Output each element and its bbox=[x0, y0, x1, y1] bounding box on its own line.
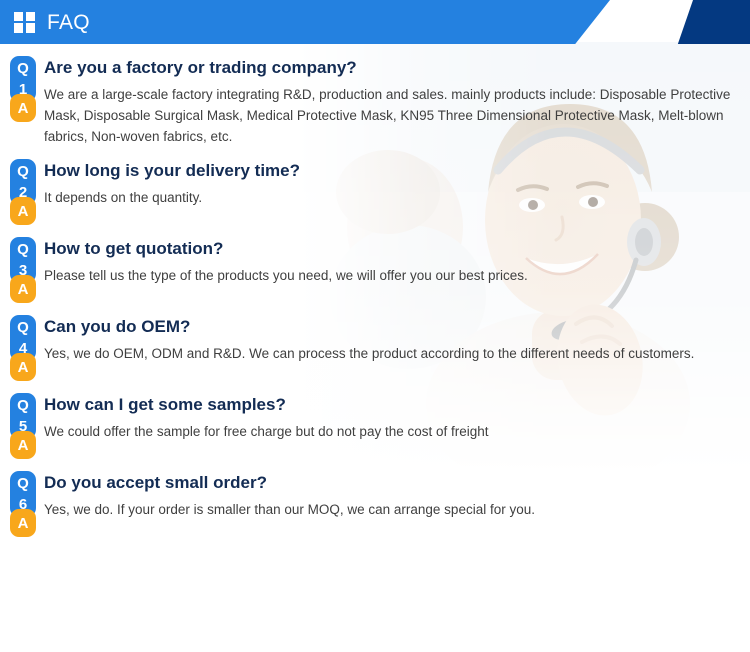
faq-text: Can you do OEM? Yes, we do OEM, ODM and … bbox=[44, 303, 750, 364]
faq-item: Q 3 A How to get quotation? Please tell … bbox=[0, 225, 750, 303]
badge-group: Q 4 A bbox=[0, 303, 44, 381]
badge-group: Q 5 A bbox=[0, 381, 44, 459]
question-text: How long is your delivery time? bbox=[44, 159, 738, 183]
question-badge-letter: Q bbox=[17, 473, 29, 494]
faq-list: Q 1 A Are you a factory or trading compa… bbox=[0, 44, 750, 537]
header-content: FAQ bbox=[0, 0, 90, 44]
faq-item: Q 5 A How can I get some samples? We cou… bbox=[0, 381, 750, 459]
question-text: Are you a factory or trading company? bbox=[44, 56, 738, 80]
answer-text: Yes, we do OEM, ODM and R&D. We can proc… bbox=[44, 343, 734, 364]
faq-text: How to get quotation? Please tell us the… bbox=[44, 225, 750, 286]
question-text: How can I get some samples? bbox=[44, 393, 738, 417]
faq-text: How long is your delivery time? It depen… bbox=[44, 147, 750, 208]
question-text: Can you do OEM? bbox=[44, 315, 738, 339]
header-blue-band bbox=[0, 0, 610, 44]
answer-text: Please tell us the type of the products … bbox=[44, 265, 734, 286]
answer-badge: A bbox=[10, 197, 36, 225]
question-badge-letter: Q bbox=[17, 317, 29, 338]
question-badge-letter: Q bbox=[17, 239, 29, 260]
answer-text: Yes, we do. If your order is smaller tha… bbox=[44, 499, 734, 520]
faq-item: Q 1 A Are you a factory or trading compa… bbox=[0, 44, 750, 147]
answer-text: We are a large-scale factory integrating… bbox=[44, 84, 734, 147]
faq-item: Q 4 A Can you do OEM? Yes, we do OEM, OD… bbox=[0, 303, 750, 381]
faq-header: FAQ bbox=[0, 0, 750, 44]
answer-text: It depends on the quantity. bbox=[44, 187, 734, 208]
faq-text: Are you a factory or trading company? We… bbox=[44, 44, 750, 147]
grid-icon bbox=[14, 12, 35, 33]
question-badge-letter: Q bbox=[17, 395, 29, 416]
answer-badge: A bbox=[10, 275, 36, 303]
answer-badge: A bbox=[10, 431, 36, 459]
badge-group: Q 1 A bbox=[0, 44, 44, 122]
answer-badge: A bbox=[10, 353, 36, 381]
question-badge-letter: Q bbox=[17, 58, 29, 79]
badge-group: Q 3 A bbox=[0, 225, 44, 303]
answer-text: We could offer the sample for free charg… bbox=[44, 421, 734, 442]
faq-text: How can I get some samples? We could off… bbox=[44, 381, 750, 442]
page-title: FAQ bbox=[47, 12, 90, 33]
header-navy-accent bbox=[676, 0, 750, 44]
question-badge-letter: Q bbox=[17, 161, 29, 182]
badge-group: Q 2 A bbox=[0, 147, 44, 225]
answer-badge: A bbox=[10, 94, 36, 122]
faq-item: Q 6 A Do you accept small order? Yes, we… bbox=[0, 459, 750, 537]
faq-text: Do you accept small order? Yes, we do. I… bbox=[44, 459, 750, 520]
question-text: How to get quotation? bbox=[44, 237, 738, 261]
question-text: Do you accept small order? bbox=[44, 471, 738, 495]
answer-badge: A bbox=[10, 509, 36, 537]
faq-page: FAQ Q 1 A Are you a factory or trading c… bbox=[0, 0, 750, 652]
faq-item: Q 2 A How long is your delivery time? It… bbox=[0, 147, 750, 225]
badge-group: Q 6 A bbox=[0, 459, 44, 537]
